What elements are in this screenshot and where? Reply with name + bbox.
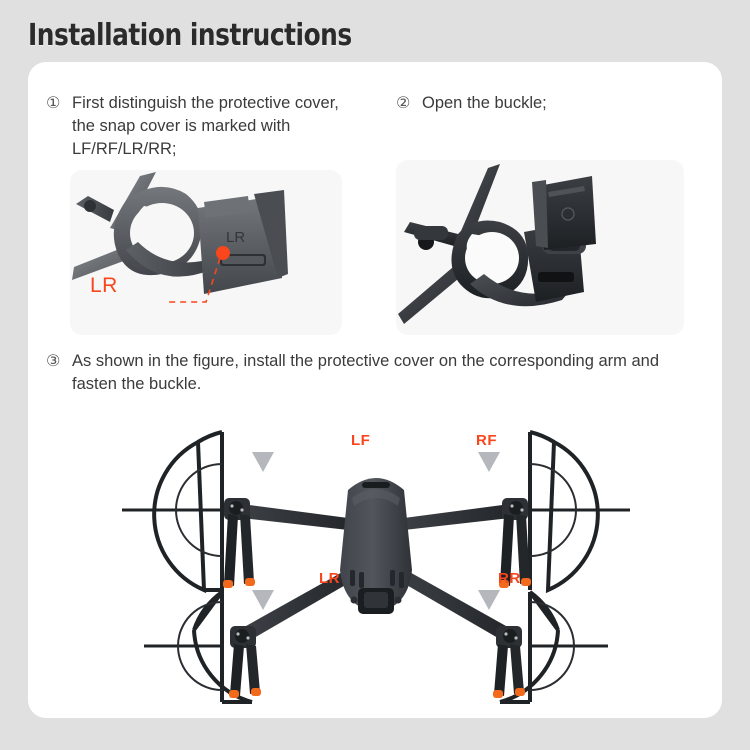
buckle-block: LR: [198, 190, 288, 294]
step-2-text: Open the buckle;: [422, 92, 547, 115]
position-label-lr: LR: [319, 570, 340, 587]
step-2-number: ②: [396, 92, 422, 115]
motor-rear-right: [493, 626, 525, 698]
clamp-marking-illustration: LR: [70, 170, 342, 335]
position-label-rf: RF: [476, 432, 497, 449]
arrow-rear-left-icon: [252, 590, 274, 610]
arrow-front-left-icon: [252, 452, 274, 472]
step-1: ① First distinguish the protective cover…: [46, 92, 356, 161]
arrow-front-right-icon: [478, 452, 500, 472]
drone-assembly-illustration: [46, 394, 706, 712]
position-label-lf: LF: [351, 432, 370, 449]
drone-body: [340, 478, 412, 614]
guard-front-right: [530, 432, 630, 590]
page-title: Installation instructions: [28, 18, 352, 53]
instructions-card: ① First distinguish the protective cover…: [28, 62, 722, 718]
step-1-text: First distinguish the protective cover, …: [72, 92, 356, 161]
step-3: ③ As shown in the figure, install the pr…: [46, 350, 686, 396]
figure-buckle-open: [396, 160, 684, 335]
position-label-rr: RR: [498, 570, 521, 587]
step-1-number: ①: [46, 92, 72, 115]
figure-drone-assembly: LF RF LR RR: [46, 394, 706, 712]
step-3-number: ③: [46, 350, 72, 373]
guard-front-left: [122, 432, 222, 590]
buckle-open-illustration: [396, 160, 684, 335]
svg-text:LR: LR: [226, 229, 245, 246]
clamp-callout-label: LR: [90, 274, 118, 298]
step-2: ② Open the buckle;: [396, 92, 696, 115]
figure-clamp-marking: LR LR: [70, 170, 342, 335]
orange-marker-dot: [216, 246, 230, 260]
step-3-text: As shown in the figure, install the prot…: [72, 350, 686, 396]
arrow-rear-right-icon: [478, 590, 500, 610]
motor-rear-left: [229, 626, 261, 698]
buckle-flap-open: [532, 176, 596, 250]
installation-instructions-page: Installation instructions ① First distin…: [0, 0, 750, 750]
